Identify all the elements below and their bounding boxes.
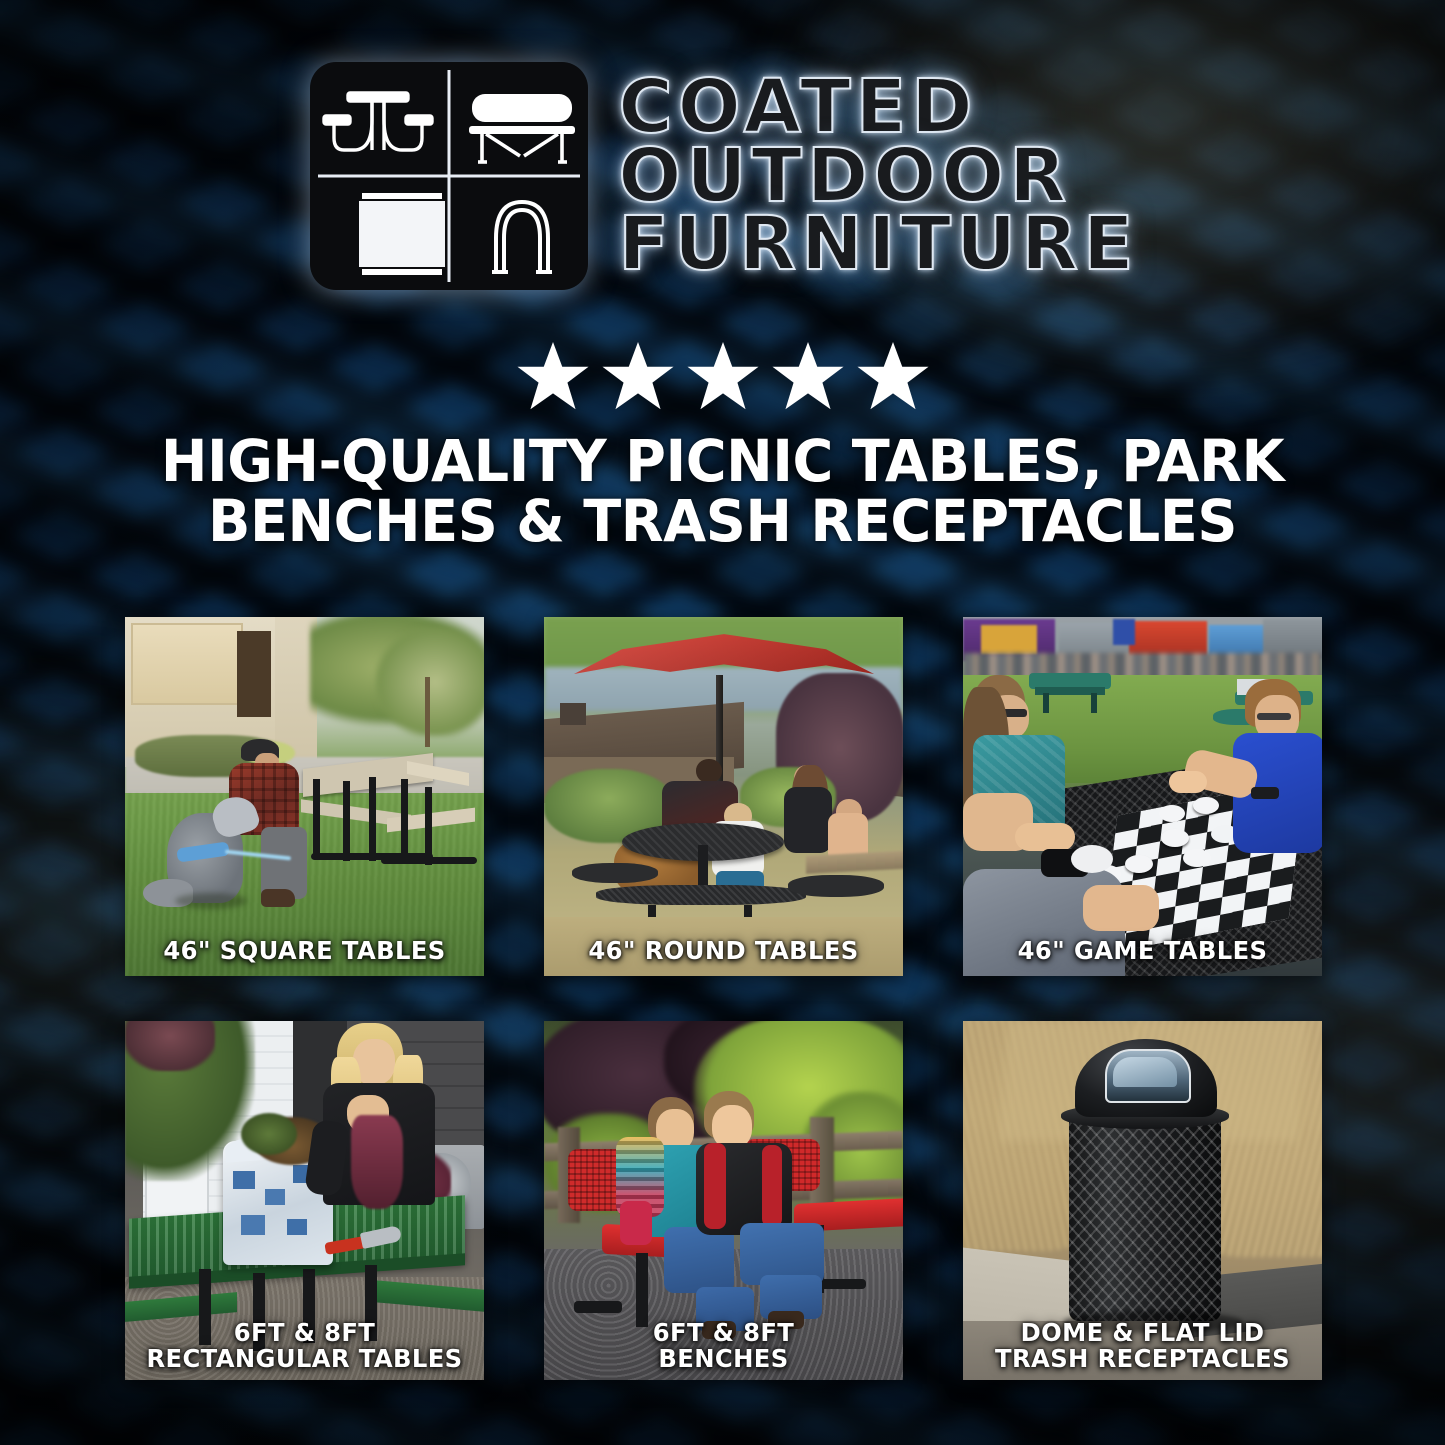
tile-caption-line: BENCHES [555, 1346, 892, 1372]
four-quadrant-outdoor-furniture-icon [306, 58, 592, 294]
tile-caption: 6FT & 8FT BENCHES [555, 1320, 892, 1372]
tile-caption-line: 6FT & 8FT [136, 1320, 473, 1346]
star-icon [771, 340, 845, 412]
product-tile-game-tables[interactable]: 46" GAME TABLES [963, 617, 1322, 976]
tile-caption: DOME & FLAT LID TRASH RECEPTACLES [974, 1320, 1311, 1372]
product-category-grid: 46" SQUARE TABLES [125, 617, 1322, 1380]
product-tile-rectangular-tables[interactable]: 6FT & 8FT RECTANGULAR TABLES [125, 1021, 484, 1380]
tile-caption-line: DOME & FLAT LID [974, 1320, 1311, 1346]
page-title: HIGH-QUALITY PICNIC TABLES, PARK BENCHES… [88, 432, 1356, 551]
scene-family-at-round-table-with-red-umbrella [544, 617, 903, 976]
brand-wordmark: COATED OUTDOOR FURNITURE [618, 73, 1138, 279]
tile-caption: 6FT & 8FT RECTANGULAR TABLES [136, 1320, 473, 1372]
scene-woman-with-dog-at-square-picnic-table [125, 617, 484, 976]
product-tile-square-tables[interactable]: 46" SQUARE TABLES [125, 617, 484, 976]
tile-caption-line: 46" GAME TABLES [974, 938, 1311, 964]
brand-word-line1: COATED [618, 73, 977, 142]
product-tile-benches[interactable]: 6FT & 8FT BENCHES [544, 1021, 903, 1380]
five-star-rating [0, 340, 1445, 412]
brand-logo-lockup: COATED OUTDOOR FURNITURE [0, 58, 1445, 294]
headline-line-1: HIGH-QUALITY PICNIC TABLES, PARK [88, 432, 1356, 492]
product-tile-trash-receptacles[interactable]: DOME & FLAT LID TRASH RECEPTACLES [963, 1021, 1322, 1380]
star-icon [601, 340, 675, 412]
tile-caption: 46" GAME TABLES [974, 938, 1311, 964]
tile-caption: 46" SQUARE TABLES [136, 938, 473, 964]
tile-caption-line: 6FT & 8FT [555, 1320, 892, 1346]
tile-caption-line: TRASH RECEPTACLES [974, 1346, 1311, 1372]
tile-caption-line: 46" SQUARE TABLES [136, 938, 473, 964]
promo-poster: COATED OUTDOOR FURNITURE HIGH-QUALITY PI… [0, 0, 1445, 1445]
tile-caption-line: 46" ROUND TABLES [555, 938, 892, 964]
star-icon [856, 340, 930, 412]
scene-people-playing-checkers-on-game-table [963, 617, 1322, 976]
headline-line-2: BENCHES & TRASH RECEPTACLES [88, 492, 1356, 552]
product-tile-round-tables[interactable]: 46" ROUND TABLES [544, 617, 903, 976]
star-icon [516, 340, 590, 412]
star-icon [686, 340, 760, 412]
tile-caption-line: RECTANGULAR TABLES [136, 1346, 473, 1372]
brand-word-line3: FURNITURE [618, 210, 1138, 279]
tile-caption: 46" ROUND TABLES [555, 938, 892, 964]
